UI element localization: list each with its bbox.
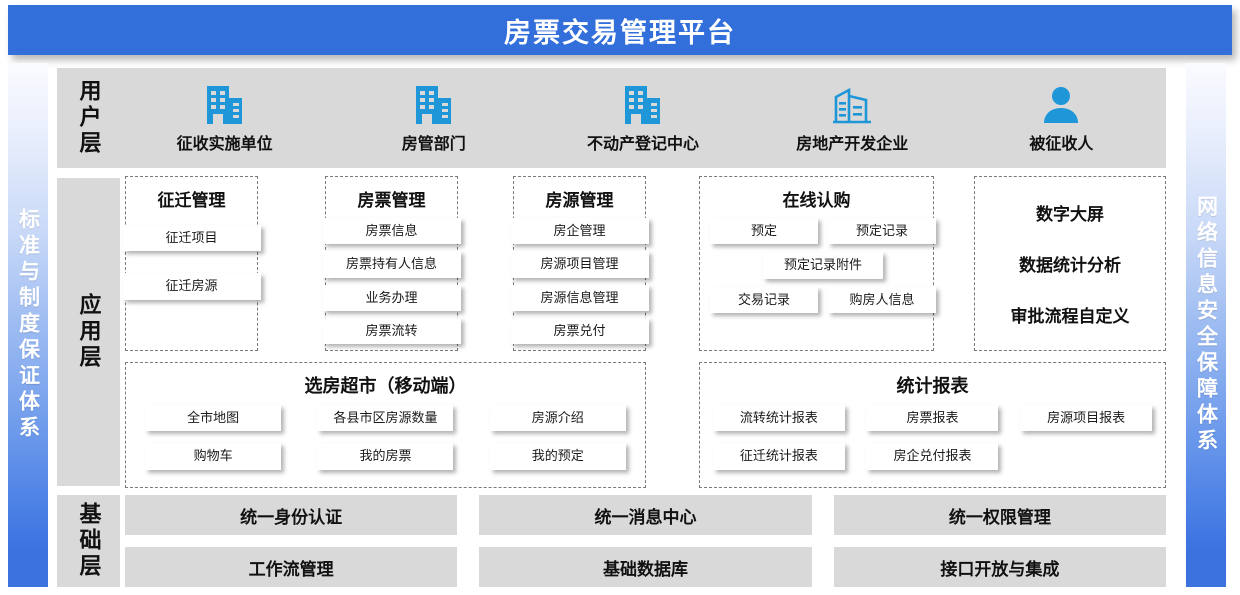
chip-item[interactable]: 购物车 [145,443,281,469]
card-title: 选房超市（移动端） [126,372,645,398]
card-housing-source-management: 房源管理 房企管理 房源项目管理 房源信息管理 房票兑付 [513,176,646,351]
chip-item[interactable]: 征迁项目 [123,225,261,251]
layer-label-application: 应用层 [57,178,120,486]
card-items: 房票信息 房票持有人信息 业务办理 房票流转 [326,218,457,352]
chip-item[interactable]: 房票信息 [323,218,461,244]
page-header: 房票交易管理平台 [8,5,1232,55]
user-item-label: 房管部门 [402,130,466,154]
chip-item[interactable]: 预定记录附件 [763,252,883,278]
card-title: 征迁管理 [126,186,257,211]
user-item-label: 征收实施单位 [177,130,273,154]
chip-item[interactable]: 业务办理 [323,285,461,311]
card-title: 房票管理 [326,186,457,211]
user-item-collection-unit[interactable]: 征收实施单位 [120,82,329,154]
card-items: 房企管理 房源项目管理 房源信息管理 房票兑付 [514,218,645,352]
architecture-diagram: 房票交易管理平台 标准与制度保证体系 网络信息安全保障体系 [0,0,1240,587]
chip-item[interactable]: 预定记录 [828,218,936,244]
layer-label-user-text: 用户层 [78,79,100,157]
base-item-unified-identity[interactable]: 统一身份认证 [125,495,457,535]
big-item-approval-workflow[interactable]: 审批流程自定义 [1011,302,1130,327]
office-building-icon [623,82,663,126]
chip-item[interactable]: 房票报表 [866,405,998,431]
chip-item[interactable]: 征迁房源 [123,273,261,299]
user-item-housing-department[interactable]: 房管部门 [329,82,538,154]
chip-item[interactable]: 预定 [710,218,818,244]
card-voucher-management: 房票管理 房票信息 房票持有人信息 业务办理 房票流转 [325,176,458,351]
card-items: 流转统计报表 房票报表 房源项目报表 征迁统计报表 房企兑付报表 [700,405,1165,480]
user-item-expropriated-person[interactable]: 被征收人 [957,82,1166,154]
card-items: 预定 预定记录 预定记录附件 交易记录 购房人信息 [700,218,933,323]
user-item-label: 房地产开发企业 [796,130,908,154]
layers-stage: 征收实施单位 [57,63,1183,587]
chip-item[interactable]: 购房人信息 [828,287,936,313]
chip-item[interactable]: 房源介绍 [490,405,626,431]
left-rail-standards: 标准与制度保证体系 [8,63,48,587]
chip-item[interactable]: 各县市区房源数量 [317,405,453,431]
base-layer: 统一身份认证 统一消息中心 统一权限管理 工作流管理 基础数据库 接口开放与集成 [125,495,1166,595]
card-items: 征迁项目 征迁房源 [126,225,257,308]
card-title: 房源管理 [514,186,645,211]
application-layer: 征迁管理 征迁项目 征迁房源 房票管理 房票信息 房票持有人信息 业务办理 房票… [125,176,1166,488]
user-layer-band: 征收实施单位 [57,68,1166,168]
office-building-icon [205,82,245,126]
person-icon [1041,82,1081,126]
layer-label-base-text: 基础层 [78,502,100,580]
card-digital-screen: 数字大屏 数据统计分析 审批流程自定义 [974,176,1166,351]
base-item-api-integration[interactable]: 接口开放与集成 [834,547,1166,587]
left-rail-label: 标准与制度保证体系 [18,208,39,442]
card-housing-market-mobile: 选房超市（移动端） 全市地图 各县市区房源数量 房源介绍 购物车 我的房票 我的… [125,362,646,488]
base-item-basic-database[interactable]: 基础数据库 [479,547,811,587]
user-item-developer-enterprise[interactable]: 房地产开发企业 [748,82,957,154]
user-layer-items: 征收实施单位 [120,68,1166,168]
right-rail-security: 网络信息安全保障体系 [1186,63,1226,587]
chip-item[interactable]: 房源项目报表 [1020,405,1152,431]
card-items: 数字大屏 数据统计分析 审批流程自定义 [975,177,1165,350]
chip-item[interactable]: 房企兑付报表 [866,443,998,469]
user-item-label: 不动产登记中心 [587,130,699,154]
base-item-permission-management[interactable]: 统一权限管理 [834,495,1166,535]
card-items: 全市地图 各县市区房源数量 房源介绍 购物车 我的房票 我的预定 [126,405,645,480]
big-item-statistics-analysis[interactable]: 数据统计分析 [1019,251,1121,276]
chip-item[interactable]: 我的房票 [317,443,453,469]
right-rail-label: 网络信息安全保障体系 [1196,195,1217,455]
user-item-label: 被征收人 [1029,130,1093,154]
chip-item[interactable]: 全市地图 [145,405,281,431]
office-building-icon [414,82,454,126]
chip-item[interactable]: 房票流转 [323,318,461,344]
base-item-workflow-management[interactable]: 工作流管理 [125,547,457,587]
card-relocation-management: 征迁管理 征迁项目 征迁房源 [125,176,258,351]
user-item-realestate-registry[interactable]: 不动产登记中心 [538,82,747,154]
base-item-message-center[interactable]: 统一消息中心 [479,495,811,535]
layer-label-user: 用户层 [57,68,120,168]
chip-item[interactable]: 征迁统计报表 [713,443,845,469]
building-outline-icon [831,82,873,126]
chip-item[interactable]: 我的预定 [490,443,626,469]
chip-item[interactable]: 房票兑付 [511,318,649,344]
chip-item[interactable]: 房企管理 [511,218,649,244]
page-title: 房票交易管理平台 [504,11,736,50]
chip-item[interactable]: 房源信息管理 [511,285,649,311]
card-title: 在线认购 [700,186,933,211]
layer-label-base: 基础层 [57,495,120,587]
chip-item[interactable]: 交易记录 [710,287,818,313]
chip-item[interactable]: 房票持有人信息 [323,251,461,277]
card-title: 统计报表 [700,372,1165,398]
chip-item[interactable]: 流转统计报表 [713,405,845,431]
chip-item[interactable]: 房源项目管理 [511,251,649,277]
big-item-digital-screen[interactable]: 数字大屏 [1036,200,1104,225]
layer-label-application-text: 应用层 [78,293,100,371]
card-online-subscription: 在线认购 预定 预定记录 预定记录附件 交易记录 购房人信息 [699,176,934,351]
card-statistical-reports: 统计报表 流转统计报表 房票报表 房源项目报表 征迁统计报表 房企兑付报表 [699,362,1166,488]
